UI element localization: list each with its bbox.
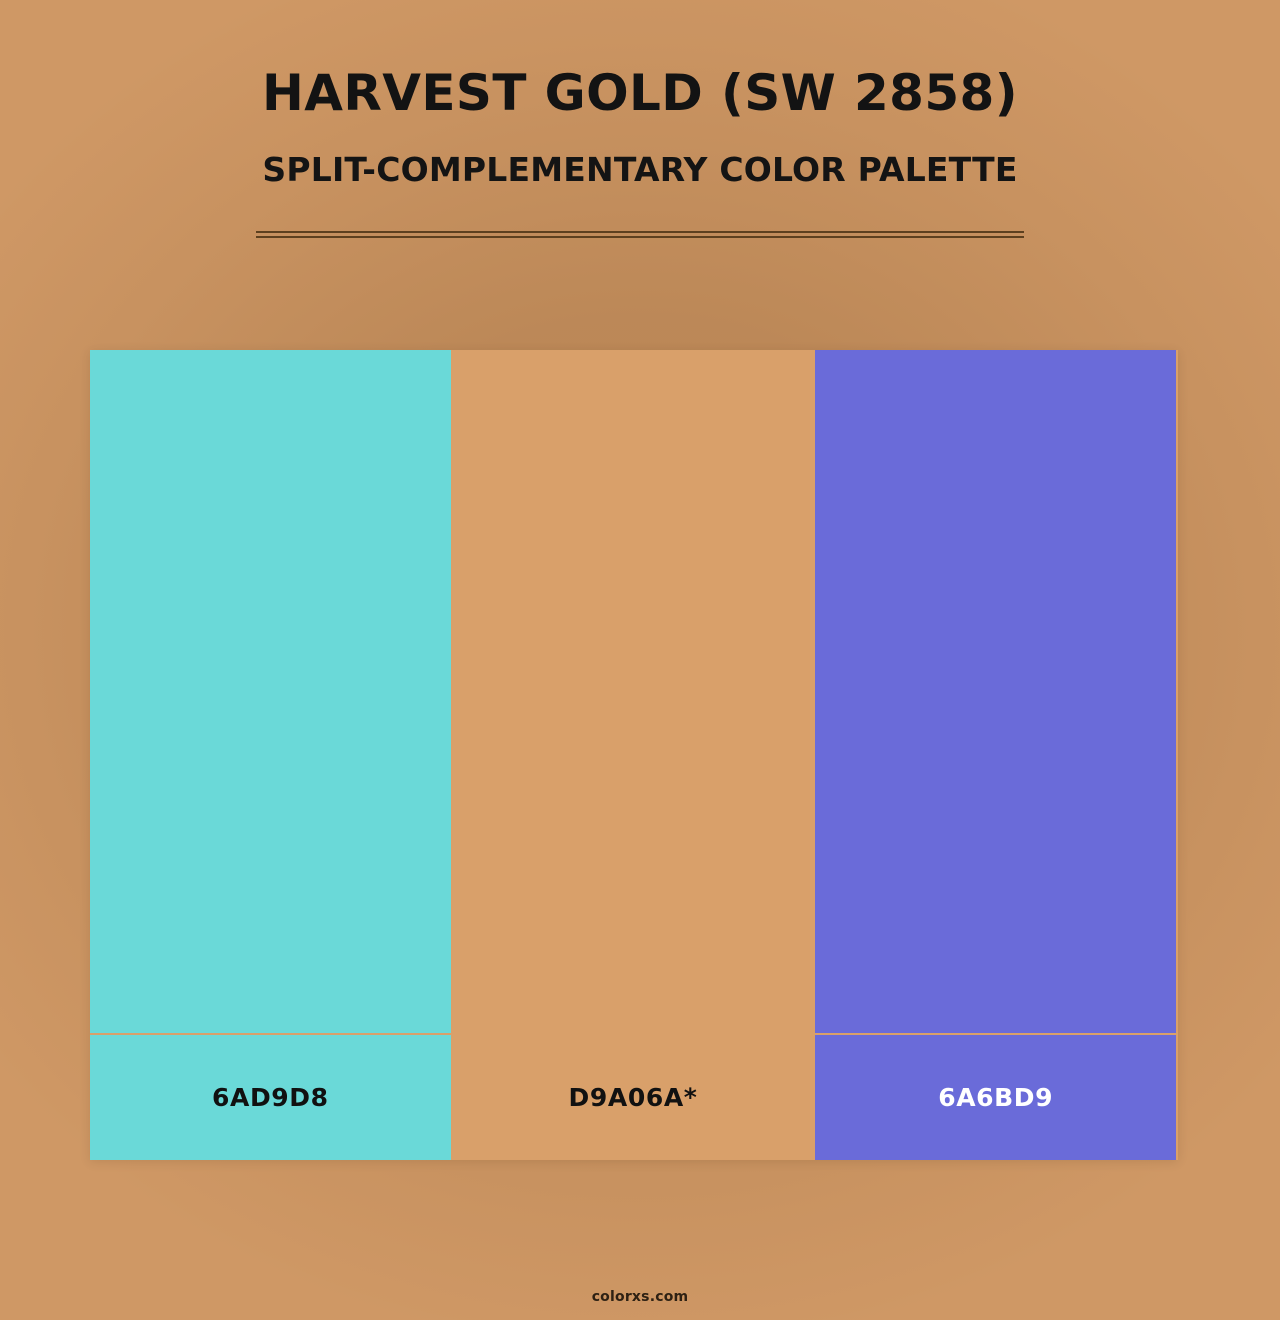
color-swatch-3[interactable]	[815, 350, 1176, 1033]
header-divider	[256, 231, 1024, 238]
page-subtitle: SPLIT-COMPLEMENTARY COLOR PALETTE	[0, 120, 1280, 189]
color-label-strip-3[interactable]: 6A6BD9	[815, 1033, 1176, 1160]
color-palette: 6AD9D8 D9A06A* 6A6BD9	[90, 350, 1178, 1160]
color-hex-label-1: 6AD9D8	[212, 1083, 329, 1112]
site-credit: colorxs.com	[592, 1289, 689, 1305]
header: HARVEST GOLD (SW 2858) SPLIT-COMPLEMENTA…	[0, 0, 1280, 189]
page-title: HARVEST GOLD (SW 2858)	[0, 66, 1280, 120]
swatch-column-3[interactable]: 6A6BD9	[813, 350, 1176, 1160]
color-hex-label-2: D9A06A*	[569, 1083, 698, 1112]
color-swatch-2[interactable]	[453, 350, 814, 1033]
swatch-column-1[interactable]: 6AD9D8	[90, 350, 451, 1160]
divider-rule-top	[256, 231, 1024, 233]
color-label-strip-1[interactable]: 6AD9D8	[90, 1033, 451, 1160]
swatch-column-2[interactable]: D9A06A*	[451, 350, 814, 1160]
color-label-strip-2[interactable]: D9A06A*	[453, 1033, 814, 1160]
palette-page: HARVEST GOLD (SW 2858) SPLIT-COMPLEMENTA…	[0, 0, 1280, 1320]
footer: colorxs.com	[0, 1286, 1280, 1305]
color-swatch-1[interactable]	[90, 350, 451, 1033]
color-hex-label-3: 6A6BD9	[938, 1083, 1053, 1112]
divider-rule-bottom	[256, 236, 1024, 238]
